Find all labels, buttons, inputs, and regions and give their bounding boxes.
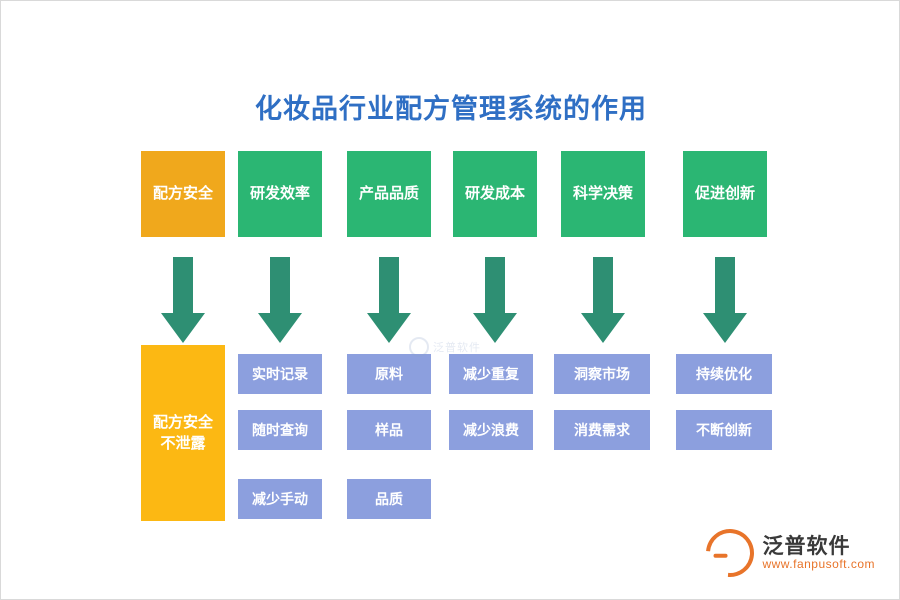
swirl-logo-icon <box>697 519 765 587</box>
arrow-down-icon-5 <box>579 257 627 345</box>
arrow-down-icon-2 <box>256 257 304 345</box>
arrow-down-icon-1 <box>159 257 207 345</box>
leaf-reduce-manual[interactable]: 减少手动 <box>238 479 322 519</box>
leaf-market-insight[interactable]: 洞察市场 <box>554 354 650 394</box>
brand-name: 泛普软件 <box>762 535 875 558</box>
brand-logo: 泛普软件 www.fanpusoft.com <box>706 529 875 577</box>
outcome-box-formula-safety[interactable]: 配方安全不泄露 <box>141 345 225 521</box>
leaf-realtime-record[interactable]: 实时记录 <box>238 354 322 394</box>
top-box-product-quality[interactable]: 产品品质 <box>347 151 431 237</box>
arrow-down-icon-3 <box>365 257 413 345</box>
leaf-query-anytime[interactable]: 随时查询 <box>238 410 322 450</box>
top-box-rd-cost[interactable]: 研发成本 <box>453 151 537 237</box>
diagram-canvas: 化妆品行业配方管理系统的作用 配方安全 研发效率 产品品质 研发成本 科学决策 … <box>0 0 900 600</box>
brand-website: www.fanpusoft.com <box>762 558 875 571</box>
arrow-down-icon-4 <box>471 257 519 345</box>
top-box-scientific-decision[interactable]: 科学决策 <box>561 151 645 237</box>
top-box-promote-innovation[interactable]: 促进创新 <box>683 151 767 237</box>
top-box-formula-safety[interactable]: 配方安全 <box>141 151 225 237</box>
top-box-rd-efficiency[interactable]: 研发效率 <box>238 151 322 237</box>
leaf-continuous-optimization[interactable]: 持续优化 <box>676 354 772 394</box>
watermark-circle-icon <box>409 337 429 357</box>
leaf-constant-innovation[interactable]: 不断创新 <box>676 410 772 450</box>
brand-logo-text: 泛普软件 www.fanpusoft.com <box>762 535 875 571</box>
watermark-center-text: 泛普软件 <box>433 339 481 355</box>
watermark-center: 泛普软件 <box>409 333 499 361</box>
arrow-down-icon-6 <box>701 257 749 345</box>
outcome-box-text: 配方安全不泄露 <box>153 412 213 454</box>
leaf-consumer-demand[interactable]: 消费需求 <box>554 410 650 450</box>
leaf-reduce-waste[interactable]: 减少浪费 <box>449 410 533 450</box>
page-title: 化妆品行业配方管理系统的作用 <box>1 87 900 126</box>
leaf-sample[interactable]: 样品 <box>347 410 431 450</box>
leaf-quality[interactable]: 品质 <box>347 479 431 519</box>
